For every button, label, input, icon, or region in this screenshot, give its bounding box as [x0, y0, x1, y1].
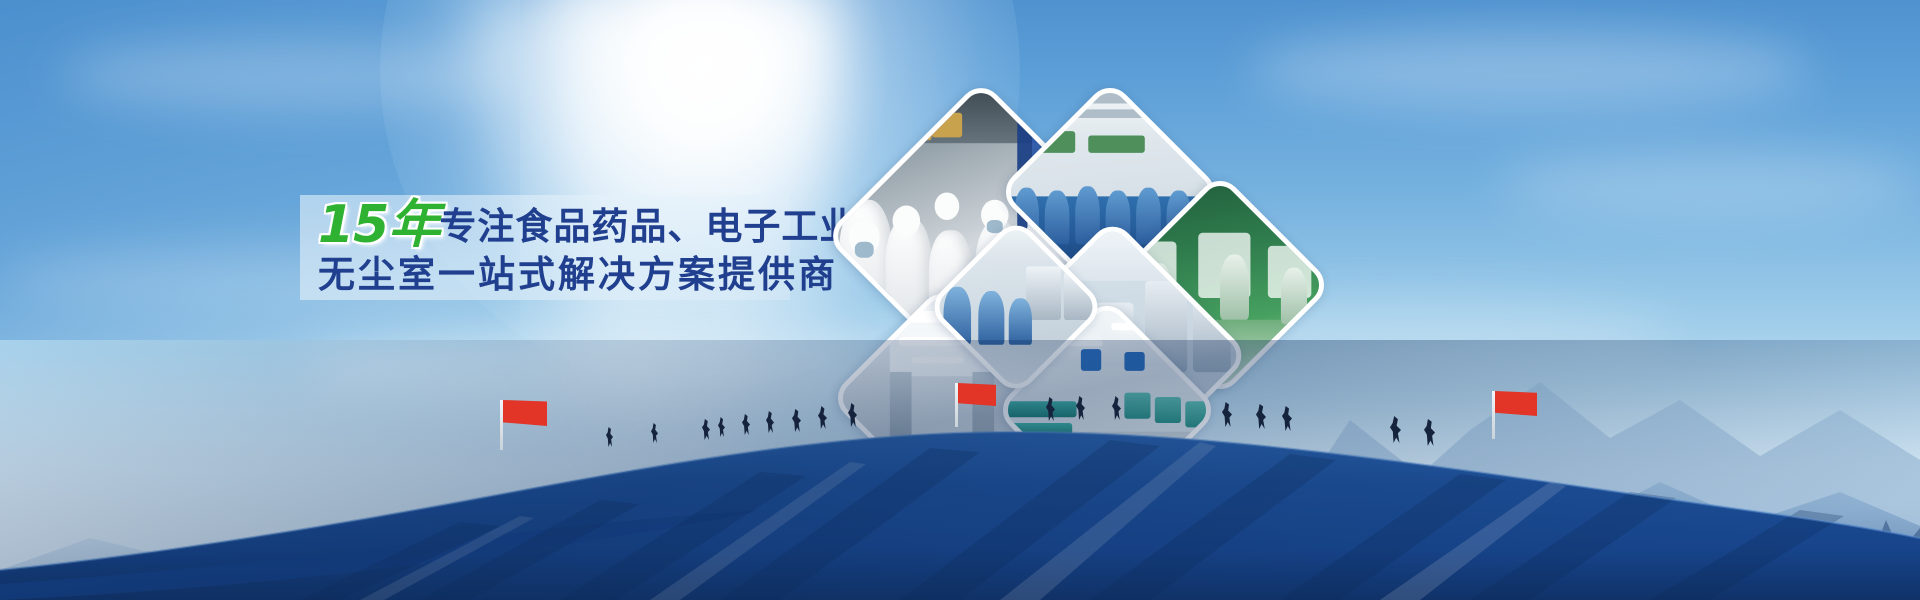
cloud-wisp [60, 40, 520, 110]
page-title: 15年专注食品药品、电子工业 无尘室一站式解决方案提供商 [318, 198, 798, 294]
headline-line-1: 15年专注食品药品、电子工业 [318, 198, 798, 253]
foreground-ridge [0, 340, 1920, 600]
headline-line-1-rest: 专注食品药品、电子工业 [439, 205, 857, 248]
headline-years-highlight: 15年 [318, 195, 439, 255]
headline-line-2-text: 无尘室一站式解决方案提供商 [318, 253, 838, 296]
hero-banner: 15年专注食品药品、电子工业 无尘室一站式解决方案提供商 [0, 0, 1920, 600]
cloud-wisp [1250, 30, 1810, 110]
cloud-wisp [1500, 150, 1920, 220]
headline-line-2: 无尘室一站式解决方案提供商 [318, 255, 798, 294]
